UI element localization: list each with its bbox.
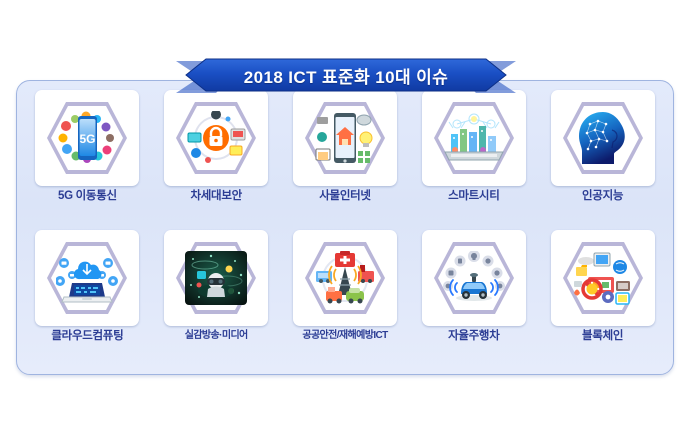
tile-card [35,230,139,326]
tile-public-safety[interactable]: 공공안전/재해예방ICT [282,230,409,370]
tile-label: 5G 이동통신 [58,190,117,203]
tile-label: 공공안전/재해예방ICT [302,330,387,341]
tile-card [164,90,268,186]
tile-label: 인공지능 [582,190,623,203]
tile-card [293,230,397,326]
hexagon-frame [432,96,516,180]
autonomous-car-icon [443,249,505,307]
hexagon-frame [174,96,258,180]
tile-blockchain[interactable]: 블록체인 [539,230,666,370]
tile-label: 자율주행차 [448,330,499,343]
ai-brain-head-icon [572,109,634,167]
svg-text:5G: 5G [80,132,96,146]
tile-card [293,90,397,186]
hexagon-frame: 5G [45,96,129,180]
smartphone-5g-icon: 5G [56,109,118,167]
tile-smart-city[interactable]: 스마트시티 [410,90,537,230]
hexagon-frame [561,236,645,320]
smart-city-tablet-icon [443,109,505,167]
tile-label: 클라우드컴퓨팅 [51,330,123,343]
hexagon-frame [561,96,645,180]
tile-card [164,230,268,326]
tile-5g[interactable]: 5G 5G 이동통신 [24,90,151,230]
hexagon-frame [45,236,129,320]
tile-label: 블록체인 [582,330,623,343]
tile-iot[interactable]: 사물인터넷 [282,90,409,230]
cloud-laptop-icon [56,249,118,307]
hexagon-frame [174,236,258,320]
tile-label: 사물인터넷 [319,190,370,203]
iot-smart-home-icon [314,109,376,167]
tile-label: 스마트시티 [448,190,499,203]
vr-media-icon [185,249,247,307]
hexagon-frame [303,236,387,320]
title-banner: 2018 ICT 표준화 10대 이슈 [176,57,516,93]
ict-top10-infographic: 2018 ICT 표준화 10대 이슈 [0,0,690,438]
tile-autonomous-vehicle[interactable]: 자율주행차 [410,230,537,370]
tile-security[interactable]: 차세대보안 [153,90,280,230]
tile-card [551,90,655,186]
tile-card [551,230,655,326]
hexagon-frame [303,96,387,180]
tile-card [422,230,526,326]
blockchain-cluster-icon [572,249,634,307]
banner-title: 2018 ICT 표준화 10대 이슈 [176,57,516,93]
tile-label: 차세대보안 [190,190,241,203]
tile-immersive-media[interactable]: 실감방송·미디어 [153,230,280,370]
tile-card [422,90,526,186]
tile-label: 실감방송·미디어 [185,330,248,341]
tile-card: 5G [35,90,139,186]
public-safety-tower-icon [314,249,376,307]
tile-ai[interactable]: 인공지능 [539,90,666,230]
issue-grid: 5G 5G 이동통신 [16,80,674,375]
hexagon-frame [432,236,516,320]
padlock-security-icon [185,109,247,167]
tile-cloud-computing[interactable]: 클라우드컴퓨팅 [24,230,151,370]
